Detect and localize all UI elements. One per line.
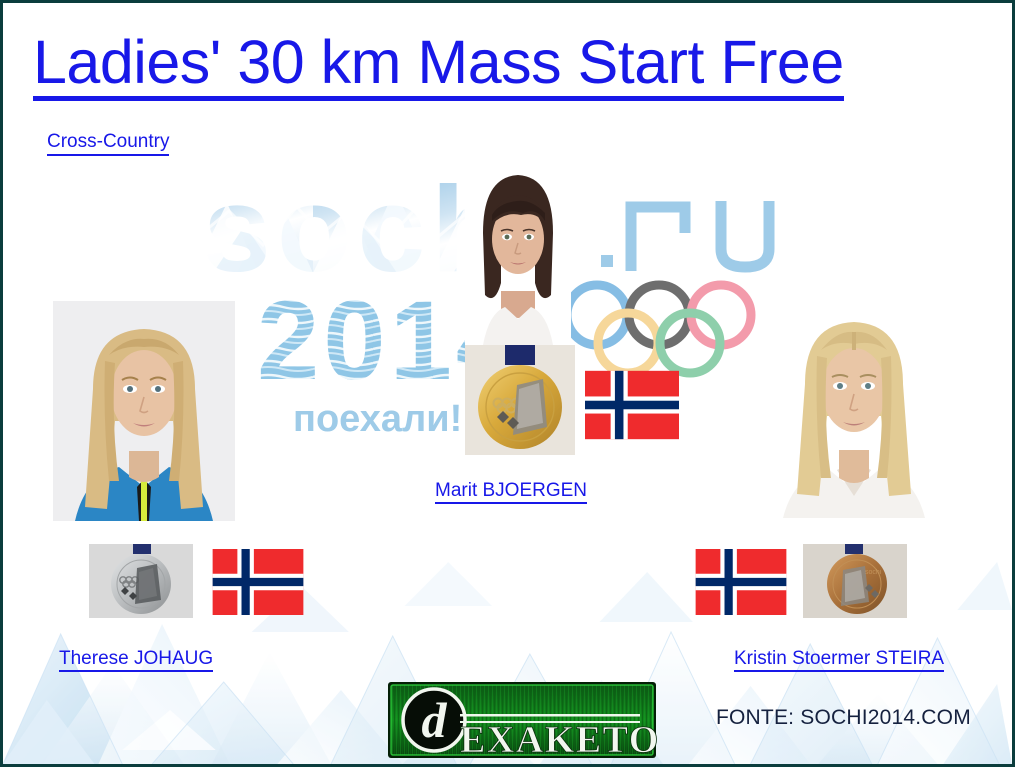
athlete-name-bronze[interactable]: Kristin Stoermer STEIRA [734,648,944,670]
dexaketo-wordmark: EXAKETO [460,719,658,760]
source-credit: FONTE: SOCHI2014.COM [716,706,971,730]
norway-flag-silver [212,549,304,615]
athlete-name-silver[interactable]: Therese JOHAUG [59,648,213,670]
norway-flag-gold [585,370,679,440]
page-title: Ladies' 30 km Mass Start Free [33,31,983,101]
athlete-portrait-silver [53,301,235,521]
dexaketo-monogram: d [422,692,448,748]
athlete-portrait-bronze [763,298,945,518]
dexaketo-logo[interactable]: d EXAKETO [386,680,658,760]
title-text: Ladies' 30 km Mass Start Free [33,31,844,101]
gold-medal-icon [465,345,575,455]
olympic-rings [567,285,751,373]
presentation-slide: sochi 2014 поехали! [0,0,1015,767]
athlete-name-bronze-text: Kristin Stoermer STEIRA [734,648,944,672]
athlete-name-silver-text: Therese JOHAUG [59,648,213,672]
athlete-portrait-gold [465,163,571,345]
svg-text:sochi: sochi [865,569,882,576]
subtitle-text: Cross-Country [47,131,169,156]
sochi-domain [601,201,769,271]
sochi-tagline: поехали! [293,398,462,440]
athlete-name-gold-text: Marit BJOERGEN [435,480,587,504]
athlete-name-gold[interactable]: Marit BJOERGEN [435,480,587,502]
discipline-subtitle: Cross-Country [47,131,169,156]
silver-medal-icon [89,544,193,618]
bronze-medal-icon: sochi [803,544,907,618]
norway-flag-bronze [695,549,787,615]
